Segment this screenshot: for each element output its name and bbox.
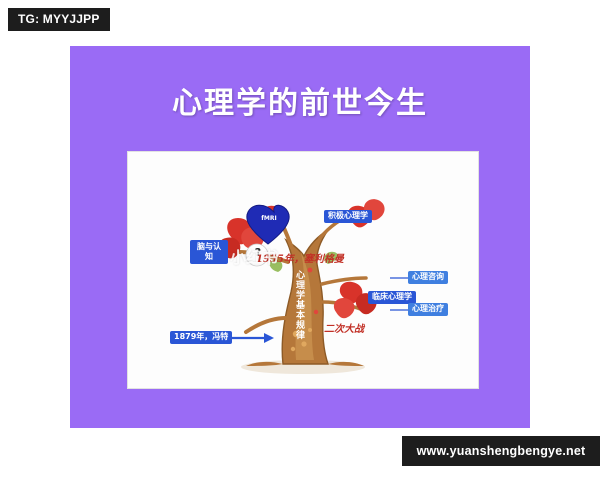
tg-badge: TG: MYYJJPP bbox=[8, 8, 110, 31]
label-counseling: 心理咨询 bbox=[408, 271, 448, 284]
page-root: TG: MYYJJPP 心理学的前世今生 bbox=[0, 0, 600, 480]
script-note-ww2: 二次大战 bbox=[324, 320, 364, 335]
label-positive-psychology: 积极心理学 bbox=[324, 210, 372, 223]
label-brain-cognition: 脑与认知 bbox=[190, 240, 228, 264]
label-clinical-psychology: 临床心理学 bbox=[368, 291, 416, 304]
trunk-text: 心理学基本规律 bbox=[294, 270, 303, 340]
source-url-bar: www.yuanshengbengye.net bbox=[402, 436, 600, 466]
watermark-xiaohongshu: 小红书 bbox=[230, 244, 278, 268]
tree-diagram: fMRI ? 脑与认知 积极心理学 心理咨询 临床心理学 心理治疗 1879年，… bbox=[127, 151, 479, 389]
slide: 心理学的前世今生 bbox=[70, 46, 530, 428]
label-psychotherapy: 心理治疗 bbox=[408, 303, 448, 316]
heart-fmri-label: fMRI bbox=[258, 216, 280, 223]
label-1879-wundt: 1879年，冯特 bbox=[170, 331, 232, 344]
page-title: 心理学的前世今生 bbox=[70, 78, 530, 122]
